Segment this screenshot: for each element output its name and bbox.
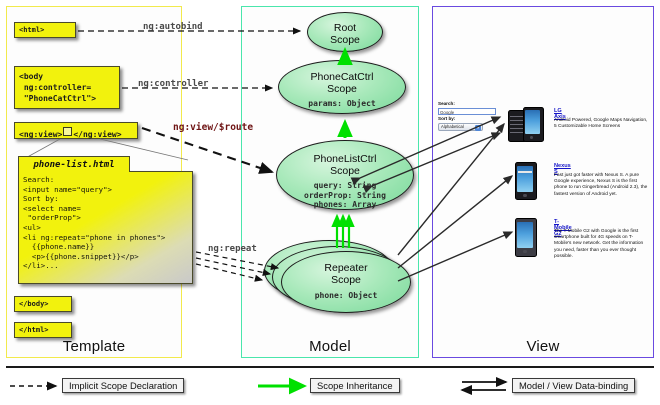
phone-description: Fast just got faster with Nexus S. A pur… [554, 173, 649, 198]
legend-divider [6, 366, 654, 368]
sort-select-value: Alphabetical [441, 124, 464, 129]
scope-repeater-title-1: Repeater [282, 262, 410, 274]
scope-repeater: Repeater Scope phone: Object [281, 251, 411, 313]
scope-root: Root Scope [307, 12, 383, 52]
scope-phonelistctrl: PhoneListCtrl Scope query: String orderP… [276, 140, 414, 210]
callout-code: Search: <input name="query"> Sort by: <s… [18, 171, 193, 284]
code-box-ngview: <ng:view></ng:view> [14, 122, 138, 139]
legend: Implicit Scope Declaration Scope Inherit… [0, 366, 660, 405]
search-input[interactable]: Google [438, 108, 496, 115]
code-box-html-close: </html> [14, 322, 72, 338]
chevron-down-icon: ▾ [475, 125, 481, 131]
ngview-close-tag: </ng:view> [73, 130, 121, 139]
label-ng-repeat: ng:repeat [208, 244, 257, 254]
view-search-form[interactable]: Search: Google Sort by: Alphabetical ▾ [438, 101, 500, 131]
scope-root-title-1: Root [308, 22, 382, 34]
ngview-open-tag: <ng:view> [19, 130, 62, 139]
sort-label: Sort by: [438, 116, 500, 122]
scope-repeater-props: phone: Object [282, 291, 410, 301]
phone-list-callout: phone-list.html Search: <input name="que… [18, 156, 193, 291]
diagram-root: Template Model View <html> <body ng:cont… [0, 0, 660, 405]
code-box-html-open: <html> [14, 22, 76, 38]
legend-label-implicit-scope: Implicit Scope Declaration [62, 378, 184, 393]
ngview-placeholder-icon [63, 127, 72, 136]
label-ng-autobind: ng:autobind [143, 22, 203, 32]
scope-repeater-title-2: Scope [282, 274, 410, 286]
panel-model-label: Model [242, 338, 418, 355]
legend-label-data-binding: Model / View Data-binding [512, 378, 635, 393]
search-label: Search: [438, 101, 500, 107]
scope-phonecatctrl: PhoneCatCtrl Scope params: Object [278, 60, 406, 114]
scope-catctrl-title-1: PhoneCatCtrl [279, 71, 405, 83]
callout-filename: phone-list.html [18, 156, 130, 172]
panel-view-label: View [433, 338, 653, 355]
scope-listctrl-title-1: PhoneListCtrl [277, 153, 413, 165]
scope-catctrl-props: params: Object [279, 99, 405, 109]
label-ng-view-route: ng:view/$route [173, 122, 253, 133]
panel-template-label: Template [7, 338, 181, 355]
label-ng-controller: ng:controller [138, 79, 208, 89]
scope-listctrl-props: query: String orderProp: String phones: … [277, 181, 413, 210]
scope-listctrl-title-2: Scope [277, 165, 413, 177]
scope-root-title-2: Scope [308, 34, 382, 46]
code-box-body-open: <body ng:controller= "PhoneCatCtrl"> [14, 66, 120, 109]
code-box-body-close: </body> [14, 296, 72, 312]
phone-description: Android Powered, Google Maps Navigation,… [554, 118, 649, 130]
legend-label-scope-inheritance: Scope Inheritance [310, 378, 400, 393]
phone-description: The T-Mobile G2 with Google is the first… [554, 229, 649, 260]
scope-catctrl-title-2: Scope [279, 83, 405, 95]
sort-select[interactable]: Alphabetical ▾ [438, 123, 483, 131]
